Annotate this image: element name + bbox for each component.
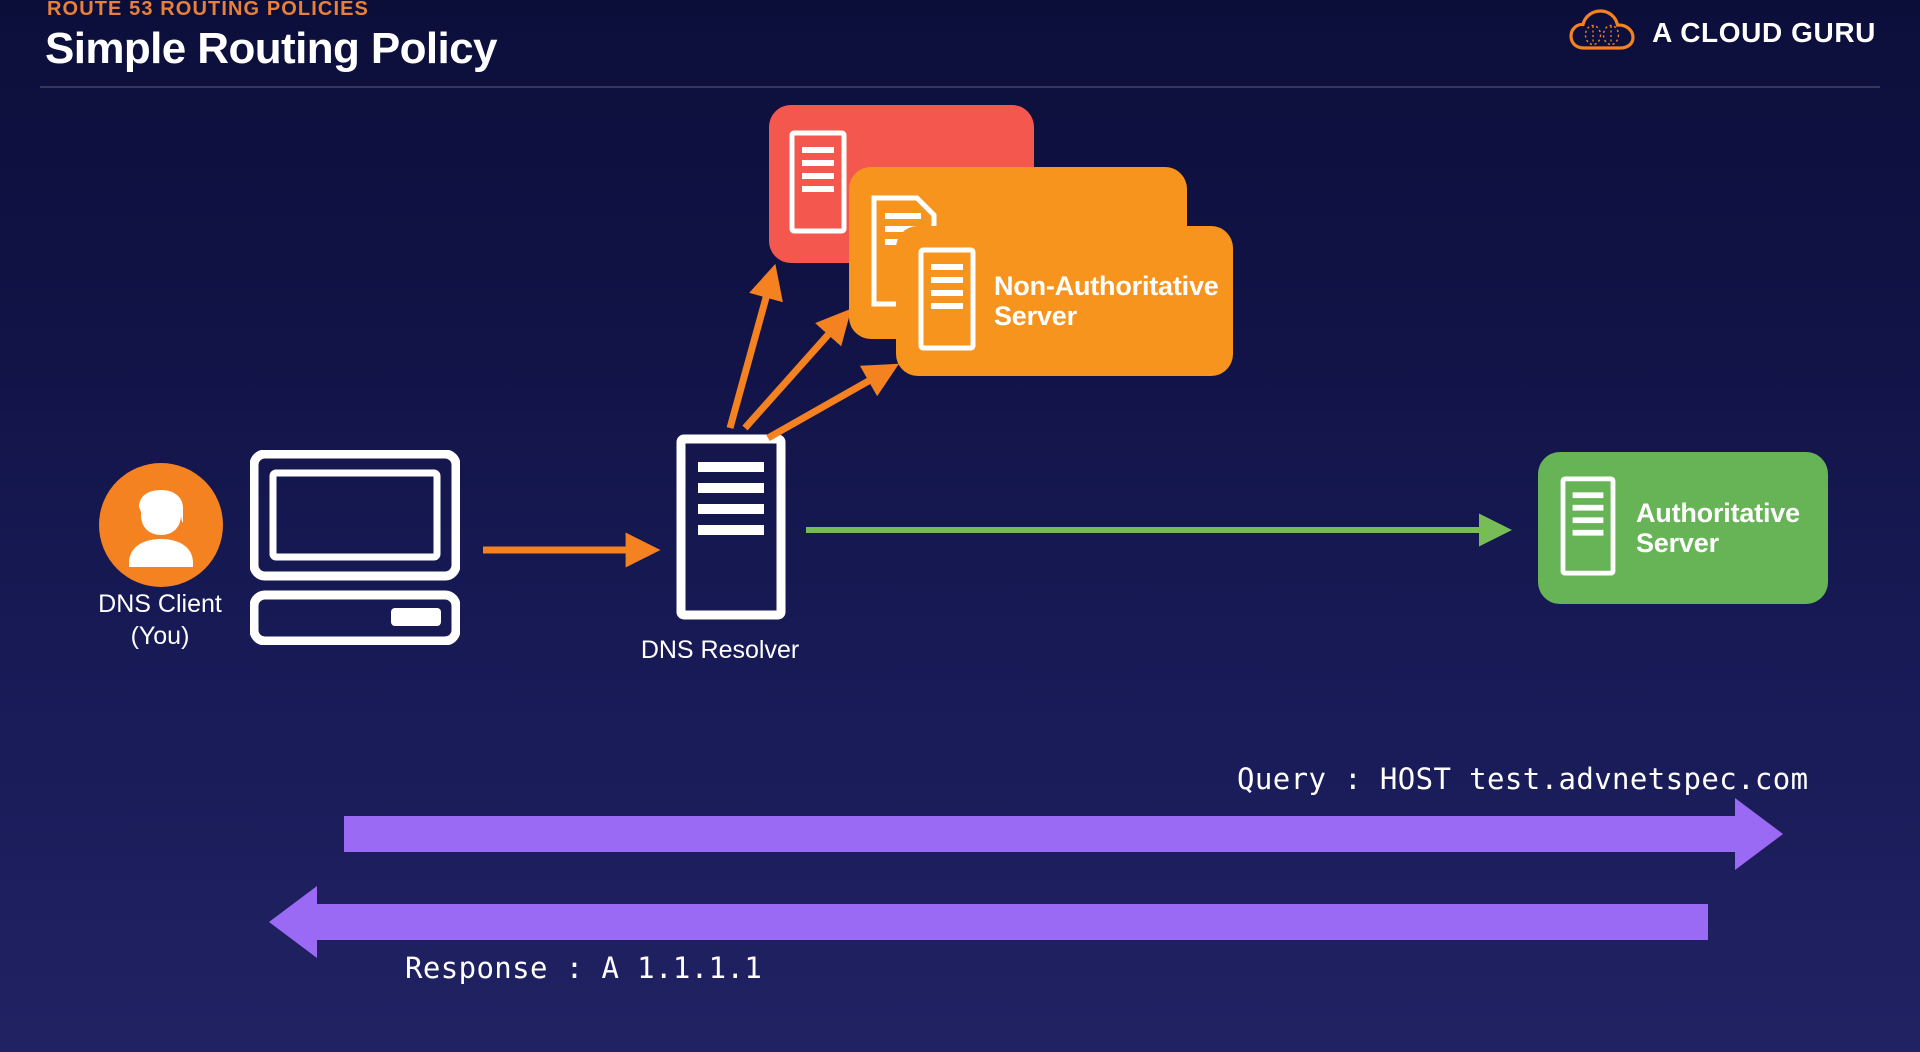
server-icon xyxy=(1560,476,1616,581)
slide-canvas: ROUTE 53 ROUTING POLICIES Simple Routing… xyxy=(0,0,1920,1052)
cloud-icon xyxy=(1568,8,1636,57)
card-authoritative-label: Authoritative Server xyxy=(1636,498,1800,558)
arrow-resolver-to-nonauth xyxy=(768,370,888,438)
arrow-resolver-to-tld xyxy=(745,318,843,428)
header-eyebrow: ROUTE 53 ROUTING POLICIES xyxy=(47,0,369,21)
arrow-query-flow xyxy=(344,798,1783,870)
resolver-label: DNS Resolver xyxy=(570,636,870,665)
query-text: Query : HOST test.advnetspec.com xyxy=(1237,762,1809,796)
page-title: Simple Routing Policy xyxy=(45,24,497,74)
server-icon xyxy=(918,247,976,356)
avatar xyxy=(99,463,223,587)
brand-name: A CLOUD GURU xyxy=(1652,17,1876,49)
server-icon xyxy=(676,434,786,625)
client-label: DNS Client (You) xyxy=(40,588,280,652)
card-non-authoritative-label: Non-Authoritative Server xyxy=(994,271,1219,331)
user-avatar-icon xyxy=(99,463,223,587)
card-non-authoritative-server[interactable]: Non-Authoritative Server xyxy=(896,226,1233,376)
slide-header: ROUTE 53 ROUTING POLICIES Simple Routing… xyxy=(0,0,1920,88)
server-icon xyxy=(789,130,847,239)
desktop-computer-icon xyxy=(250,450,460,650)
response-text: Response : A 1.1.1.1 xyxy=(405,951,762,985)
header-divider xyxy=(40,86,1880,88)
brand-logo: A CLOUD GURU xyxy=(1568,8,1876,57)
arrow-resolver-to-root xyxy=(730,276,772,428)
arrow-response-flow xyxy=(269,886,1708,958)
card-authoritative-server[interactable]: Authoritative Server xyxy=(1538,452,1828,604)
